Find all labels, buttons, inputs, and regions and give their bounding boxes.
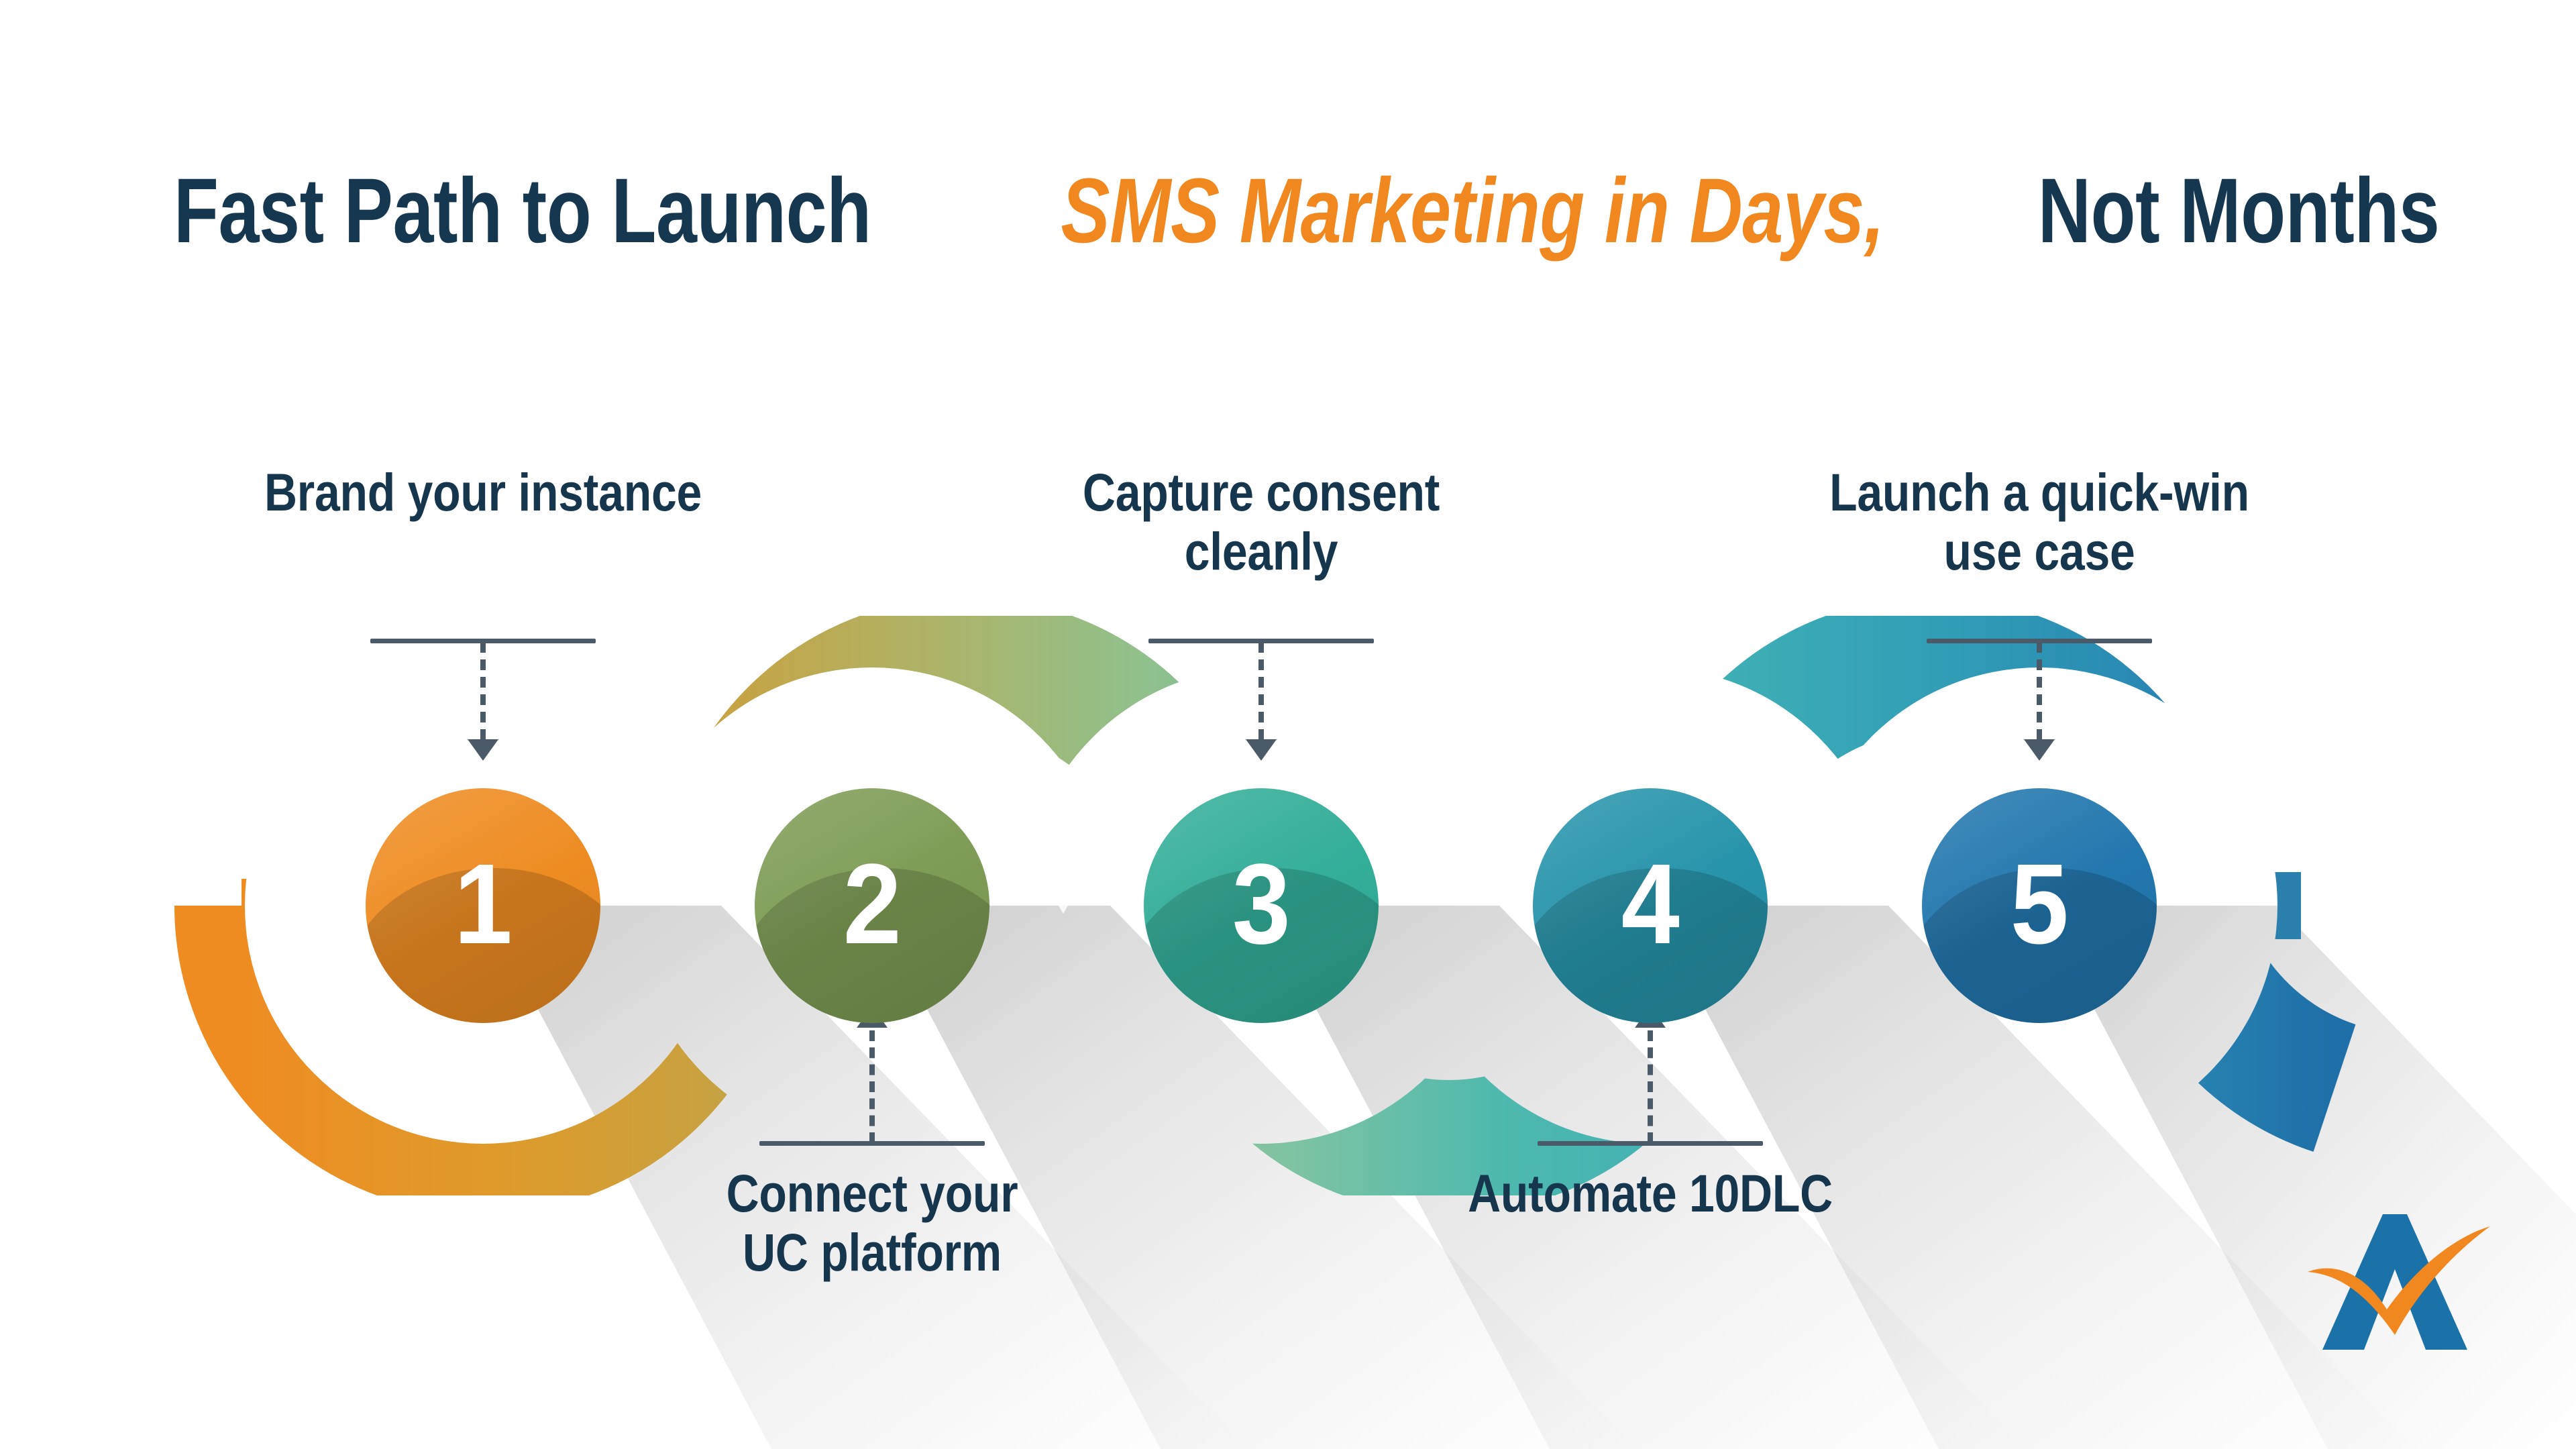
step-number: 1: [454, 847, 513, 961]
connector-step-4: [1538, 1006, 1763, 1146]
connector-bar: [1538, 1141, 1763, 1146]
step-node-4[interactable]: 4: [1533, 788, 1768, 1023]
step-node-5[interactable]: 5: [1922, 788, 2157, 1023]
connector-dash-line: [480, 642, 486, 740]
connector-arrowhead: [1246, 739, 1277, 761]
connector-arrowhead: [2024, 739, 2055, 761]
connector-bar: [759, 1141, 985, 1146]
connector-dash-line: [2037, 642, 2042, 740]
connector-step-5: [1927, 639, 2152, 778]
connector-dash-line: [869, 1030, 875, 1143]
step-number: 2: [843, 847, 902, 961]
step-number: 3: [1232, 847, 1291, 961]
connector-step-1: [370, 639, 596, 778]
step-node-1[interactable]: 1: [366, 788, 600, 1023]
infographic-canvas: Fast Path to Launch SMS Marketing in Day…: [0, 0, 2576, 1449]
brand-logo: [2294, 1207, 2495, 1382]
step-number: 5: [2010, 847, 2069, 961]
step-label-3: Capture consent cleanly: [973, 463, 1550, 582]
step-node-2[interactable]: 2: [755, 788, 989, 1023]
step-label-1: Brand your instance: [195, 463, 771, 522]
step-node-3[interactable]: 3: [1144, 788, 1379, 1023]
step-label-2: Connect your UC platform: [584, 1164, 1161, 1283]
connector-dash-line: [1258, 642, 1264, 740]
step-label-4: Automate 10DLC: [1362, 1164, 1939, 1223]
connector-step-2: [759, 1006, 985, 1146]
connector-arrowhead: [468, 739, 498, 761]
connector-dash-line: [1648, 1030, 1653, 1143]
step-label-5: Launch a quick-win use case: [1751, 463, 2328, 582]
step-number: 4: [1621, 847, 1680, 961]
connector-step-3: [1148, 639, 1374, 778]
